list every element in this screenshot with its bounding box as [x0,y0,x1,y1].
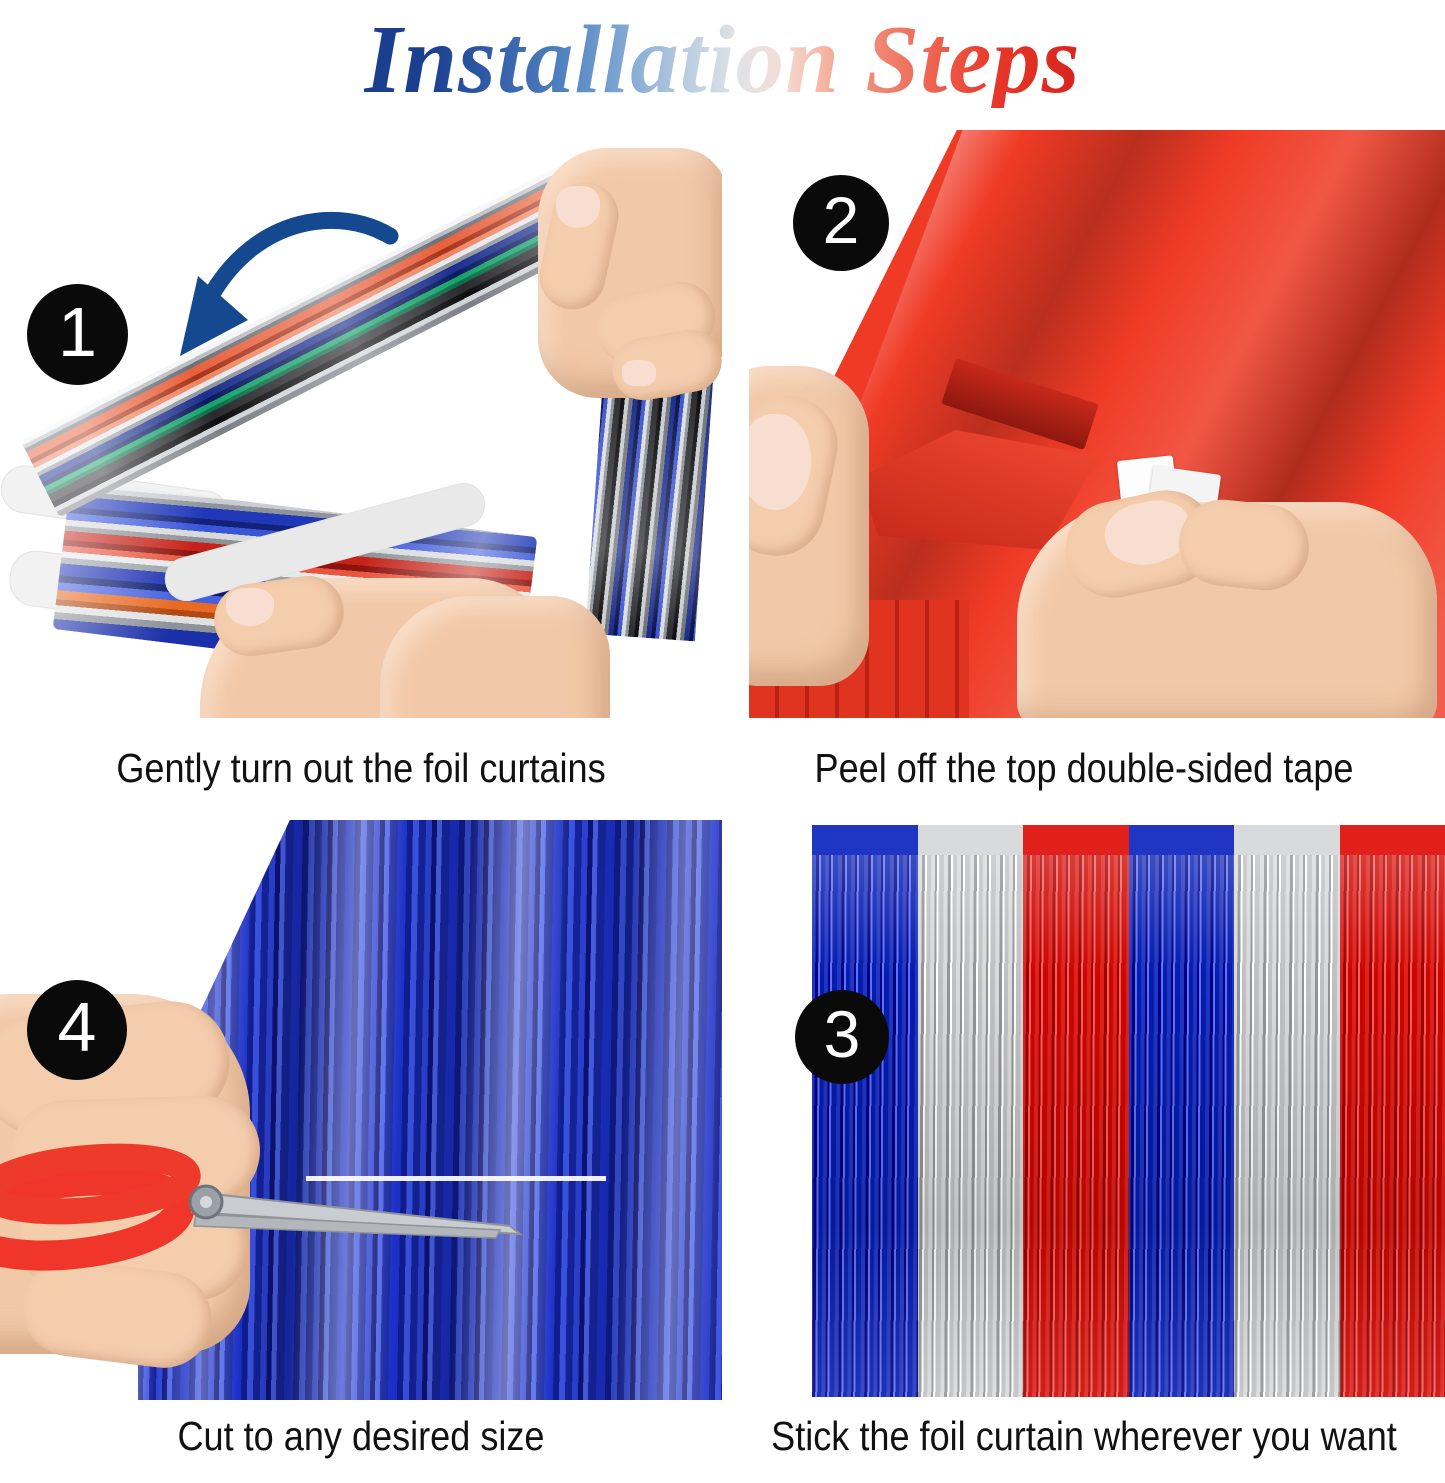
curtain-panel-header [1340,825,1445,859]
step-card-4: Cut to any desired size 4 [0,820,722,1483]
curtain-panel-header [918,825,1024,859]
page-title: Installation Steps Installation Steps [364,11,1080,108]
curtain-panel [1340,825,1445,1397]
curtain-fringe [1234,855,1340,1397]
steps-grid: Gently turn out the foil curtains 1 [0,118,1445,1483]
curtain-sheen [812,855,918,1397]
curtain-panel [1234,825,1340,1397]
curtain-panel-header [812,825,918,859]
step-2-caption: Peel off the top double-sided tape [766,748,1401,789]
step-4-caption: Cut to any desired size [43,1416,678,1457]
step-1-caption: Gently turn out the foil curtains [43,748,678,789]
curtain-panel [1129,825,1235,1397]
curtain-panel [918,825,1024,1397]
step-1-image [0,148,722,718]
curtain-sheen [918,855,1024,1397]
curtain-fringe [1340,855,1445,1397]
direction-arrow-icon [140,198,400,388]
foil-curtain-panels [812,825,1445,1397]
curtain-fringe [812,855,918,1397]
step-4-image [0,820,722,1400]
scissors-icon [0,1140,540,1280]
step-number-badge-4: 4 [27,980,127,1080]
step-card-3: Stick the foil curtain wherever you want… [723,820,1445,1483]
curtain-panel-header [1129,825,1235,859]
curtain-sheen [1234,855,1340,1397]
curtain-sheen [1023,855,1129,1397]
step-card-2: Peel off the top double-sided tape 2 [723,118,1445,818]
curtain-sheen [1340,855,1445,1397]
curtain-panel-header [1023,825,1129,859]
step-number-badge-2: 2 [793,175,889,271]
step-card-1: Gently turn out the foil curtains 1 [0,118,722,818]
step-number-badge-3: 3 [795,990,889,1084]
step-3-image [723,820,1445,1400]
curtain-panel [1023,825,1129,1397]
curtain-panel-header [1234,825,1340,859]
step-3-caption: Stick the foil curtain wherever you want [766,1416,1401,1457]
step-number-1: 1 [58,292,97,372]
step-number-2: 2 [823,182,860,258]
step-number-badge-1: 1 [27,284,128,385]
step-number-3: 3 [824,996,861,1072]
page-title-text: Installation Steps [364,11,1080,108]
curtain-panel [812,825,918,1397]
curtain-fringe [1129,855,1235,1397]
step-number-4: 4 [58,987,97,1067]
curtain-sheen [1129,855,1235,1397]
page-header: Installation Steps Installation Steps [0,0,1445,118]
curtain-fringe [918,855,1024,1397]
curtain-fringe [1023,855,1129,1397]
